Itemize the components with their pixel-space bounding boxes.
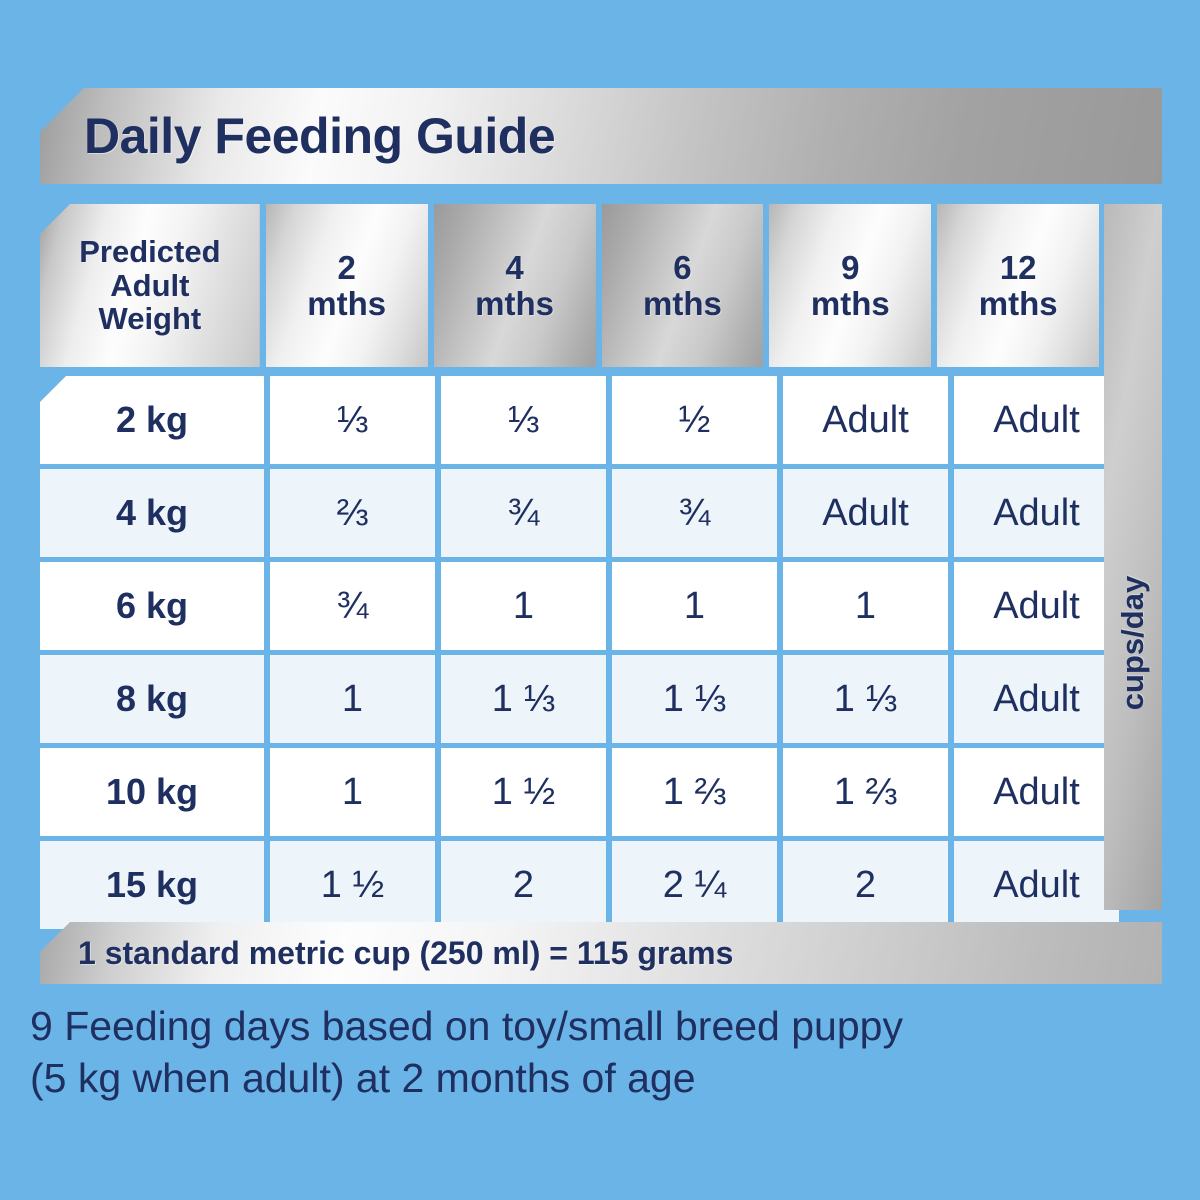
cell-12mths: Adult <box>954 376 1119 464</box>
cell-2mths: ¾ <box>270 562 435 650</box>
cell-2mths: ⅓ <box>270 376 435 464</box>
row-weight-label: 10 kg <box>40 748 264 836</box>
column-header-4mths: 4 mths <box>434 204 596 367</box>
row-weight-label: 15 kg <box>40 841 264 929</box>
cell-2mths: 1 <box>270 655 435 743</box>
column-header-6mths-number: 6 <box>643 250 722 286</box>
cup-conversion-banner: 1 standard metric cup (250 ml) = 115 gra… <box>40 922 1162 984</box>
column-header-2mths-unit: mths <box>307 286 386 322</box>
column-header-weight: Predicted Adult Weight <box>40 204 260 367</box>
footnote-line-1: 9 Feeding days based on toy/small breed … <box>30 1000 1170 1052</box>
row-weight-label: 6 kg <box>40 562 264 650</box>
cell-6mths: 2 ¼ <box>612 841 777 929</box>
column-header-2mths-number: 2 <box>307 250 386 286</box>
column-header-12mths-unit: mths <box>979 286 1058 322</box>
cell-6mths: 1 ⅓ <box>612 655 777 743</box>
cell-2mths: 1 <box>270 748 435 836</box>
table-row: 4 kg ⅔ ¾ ¾ Adult Adult <box>40 469 1162 557</box>
cell-6mths: 1 <box>612 562 777 650</box>
column-header-9mths: 9 mths <box>769 204 931 367</box>
row-weight-label: 8 kg <box>40 655 264 743</box>
footnote: 9 Feeding days based on toy/small breed … <box>30 1000 1170 1105</box>
cell-4mths: 1 <box>441 562 606 650</box>
table-row: 15 kg 1 ½ 2 2 ¼ 2 Adult <box>40 841 1162 929</box>
cell-2mths: ⅔ <box>270 469 435 557</box>
column-header-4mths-number: 4 <box>475 250 554 286</box>
column-header-weight-line1: Predicted <box>79 235 220 268</box>
cell-12mths: Adult <box>954 655 1119 743</box>
column-header-12mths: 12 mths <box>937 204 1099 367</box>
title-banner: Daily Feeding Guide <box>40 88 1162 184</box>
cell-9mths: 1 ⅔ <box>783 748 948 836</box>
cell-6mths: ½ <box>612 376 777 464</box>
cell-9mths: 2 <box>783 841 948 929</box>
column-header-6mths-unit: mths <box>643 286 722 322</box>
cell-9mths: 1 ⅓ <box>783 655 948 743</box>
feeding-guide-page: Daily Feeding Guide Predicted Adult Weig… <box>0 0 1200 1200</box>
cell-9mths: Adult <box>783 469 948 557</box>
column-header-weight-line2: Adult <box>79 269 220 302</box>
row-weight-label: 4 kg <box>40 469 264 557</box>
column-header-4mths-unit: mths <box>475 286 554 322</box>
cell-12mths: Adult <box>954 841 1119 929</box>
cell-4mths: 2 <box>441 841 606 929</box>
table-row: 6 kg ¾ 1 1 1 Adult <box>40 562 1162 650</box>
cell-2mths: 1 ½ <box>270 841 435 929</box>
cell-4mths: ¾ <box>441 469 606 557</box>
cell-6mths: ¾ <box>612 469 777 557</box>
cups-per-day-label: cups/day <box>1115 576 1151 710</box>
feeding-table: Predicted Adult Weight 2 mths 4 mths <box>40 204 1162 934</box>
cell-12mths: Adult <box>954 469 1119 557</box>
cell-9mths: 1 <box>783 562 948 650</box>
cell-6mths: 1 ⅔ <box>612 748 777 836</box>
cell-12mths: Adult <box>954 748 1119 836</box>
footnote-line-2: (5 kg when adult) at 2 months of age <box>30 1052 1170 1104</box>
row-weight-label: 2 kg <box>40 376 264 464</box>
page-title: Daily Feeding Guide <box>84 107 555 165</box>
cell-4mths: ⅓ <box>441 376 606 464</box>
cup-conversion-text: 1 standard metric cup (250 ml) = 115 gra… <box>78 935 733 972</box>
column-header-6mths: 6 mths <box>602 204 764 367</box>
table-header-row: Predicted Adult Weight 2 mths 4 mths <box>40 204 1162 367</box>
column-header-12mths-number: 12 <box>979 250 1058 286</box>
table-row: 2 kg ⅓ ⅓ ½ Adult Adult <box>40 376 1162 464</box>
column-header-2mths: 2 mths <box>266 204 428 367</box>
column-header-weight-line3: Weight <box>79 302 220 335</box>
table-row: 8 kg 1 1 ⅓ 1 ⅓ 1 ⅓ Adult <box>40 655 1162 743</box>
cell-4mths: 1 ½ <box>441 748 606 836</box>
table-row: 10 kg 1 1 ½ 1 ⅔ 1 ⅔ Adult <box>40 748 1162 836</box>
cups-per-day-label-wrap: cups/day <box>1104 376 1162 910</box>
column-header-9mths-unit: mths <box>811 286 890 322</box>
cell-12mths: Adult <box>954 562 1119 650</box>
cell-9mths: Adult <box>783 376 948 464</box>
column-header-9mths-number: 9 <box>811 250 890 286</box>
cell-4mths: 1 ⅓ <box>441 655 606 743</box>
